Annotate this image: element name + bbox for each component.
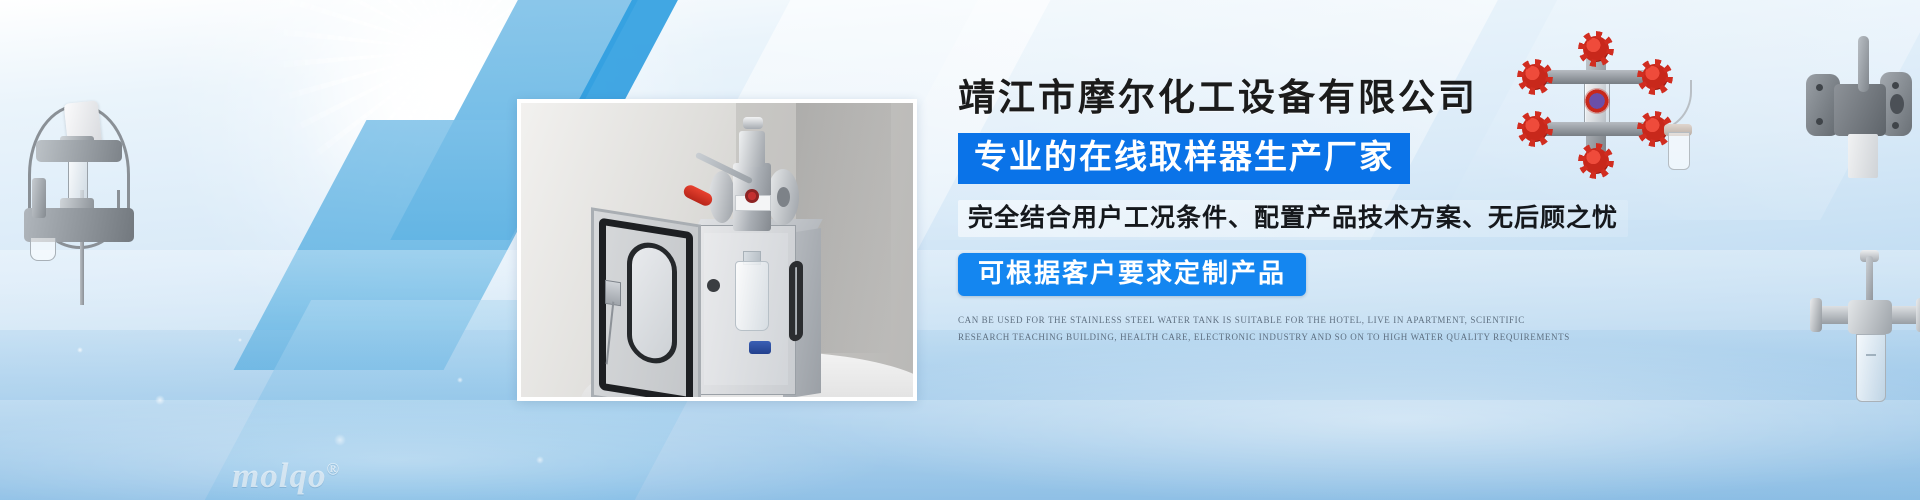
right-bottom-product-image (1810, 250, 1920, 430)
promo-banner: 靖江市摩尔化工设备有限公司 专业的在线取样器生产厂家 完全结合用户工况条件、配置… (0, 0, 1920, 500)
registered-trademark-icon: ® (326, 459, 340, 478)
logo-text: molqo (232, 456, 326, 495)
custom-product-cta-button[interactable]: 可根据客户要求定制产品 (958, 253, 1306, 296)
company-title: 靖江市摩尔化工设备有限公司 (958, 78, 1698, 119)
subline-container: 完全结合用户工况条件、配置产品技术方案、无后顾之忧 (958, 200, 1628, 237)
english-description: CAN BE USED FOR THE STAINLESS STEEL WATE… (958, 312, 1578, 345)
headline-highlight-bar: 专业的在线取样器生产厂家 (958, 133, 1410, 184)
subline-text: 完全结合用户工况条件、配置产品技术方案、无后顾之忧 (968, 204, 1618, 233)
left-product-image (10, 40, 160, 310)
brand-watermark-logo: molqo® (232, 456, 340, 496)
handwheel-icon (1583, 36, 1609, 62)
banner-text-block: 靖江市摩尔化工设备有限公司 专业的在线取样器生产厂家 完全结合用户工况条件、配置… (958, 78, 1698, 345)
headline-text: 专业的在线取样器生产厂家 (974, 140, 1394, 175)
cta-label: 可根据客户要求定制产品 (978, 260, 1286, 287)
center-product-photo (517, 99, 917, 401)
right-corner-product-image (1800, 30, 1920, 180)
